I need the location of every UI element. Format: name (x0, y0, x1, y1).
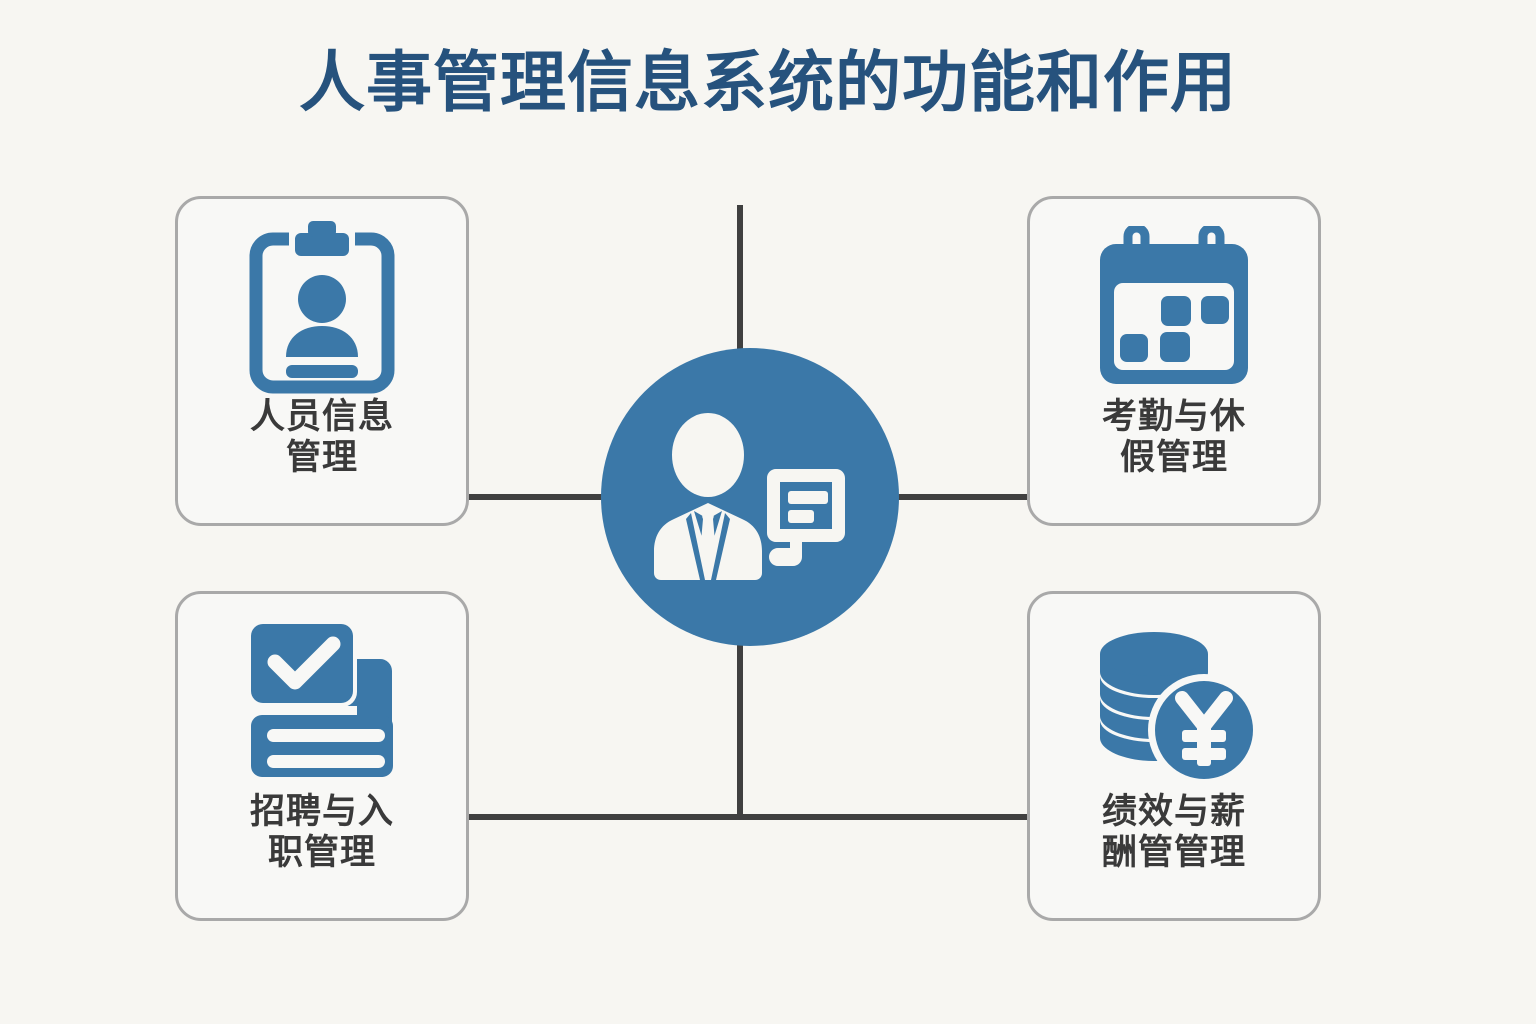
card-label: 人员信息 管理 (202, 397, 442, 480)
card-personnel-information-management[interactable]: 人员信息 管理 (175, 196, 469, 526)
card-performance-compensation-management[interactable]: 绩效与薪 酬管管理 (1027, 591, 1321, 921)
card-label-line2: 职管理 (202, 833, 442, 874)
card-attendance-leave-management[interactable]: 考勤与休 假管理 (1027, 196, 1321, 526)
card-label-line1: 考勤与休 (1054, 397, 1294, 438)
card-label-line1: 人员信息 (202, 397, 442, 438)
center-hub[interactable] (601, 348, 899, 646)
card-label-line1: 招聘与入 (202, 792, 442, 833)
coin-stack-yen-icon (1089, 618, 1259, 788)
clipboard-person-icon (237, 223, 407, 393)
calendar-icon (1089, 223, 1259, 393)
card-label: 考勤与休 假管理 (1054, 397, 1294, 480)
employee-profile-icon (650, 407, 850, 587)
card-recruitment-onboarding-management[interactable]: 招聘与入 职管理 (175, 591, 469, 921)
card-label: 绩效与薪 酬管管理 (1054, 792, 1294, 875)
card-label: 招聘与入 职管理 (202, 792, 442, 875)
card-label-line2: 管理 (202, 438, 442, 479)
card-label-line1: 绩效与薪 (1054, 792, 1294, 833)
document-check-icon (237, 618, 407, 788)
card-label-line2: 假管理 (1054, 438, 1294, 479)
card-label-line2: 酬管管理 (1054, 833, 1294, 874)
diagram-canvas: 人事管理信息系统的功能和作用 (0, 0, 1536, 1024)
